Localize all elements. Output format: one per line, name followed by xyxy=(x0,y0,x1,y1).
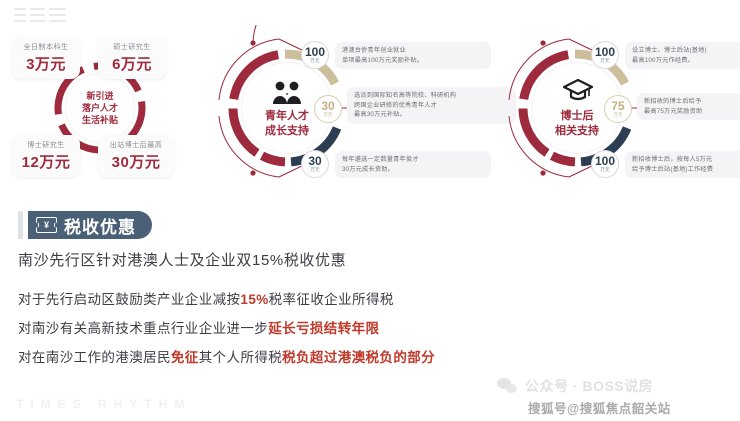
diagram-youth-talent: 青年人才 成长支持 100 万元 30 万元 30 万元 港澳台侨青年创业就业 … xyxy=(205,25,495,190)
wechat-icon xyxy=(497,378,519,395)
settlement-center-line-1: 新引进 xyxy=(86,90,113,102)
settlement-center-line-2: 落户人才 xyxy=(82,102,118,114)
youth-badge-3: 30 万元 xyxy=(301,150,329,178)
postdoc-badge-3: 100 万元 xyxy=(591,150,619,178)
settlement-center-line-3: 生活补贴 xyxy=(82,114,118,126)
youth-node-top xyxy=(250,40,255,45)
tax-policy-line-1: 对于先行启动区鼓励类产业企业减按15%税率征收企业所得税 xyxy=(18,288,435,308)
tax-heading-title: 税收优惠 xyxy=(64,213,136,238)
diagram-settlement-subsidy: 新引进 落户人才 生活补贴 全日制本科生 3万元 硕士研究生 6万元 博士研究生… xyxy=(0,25,200,190)
tax-subtitle: 南沙先行区针对港澳人士及企业双15%税收优惠 xyxy=(18,249,346,270)
decorative-lines xyxy=(14,8,66,24)
times-rhythm-watermark: TIMES RHYTHM xyxy=(16,397,191,411)
settlement-card-bachelor: 全日制本科生 3万元 xyxy=(12,37,80,79)
sohu-watermark: 搜狐号@搜狐焦点韶关站 xyxy=(528,398,671,417)
youth-badge-1: 100 万元 xyxy=(301,41,329,69)
settlement-card-master: 硕士研究生 6万元 xyxy=(98,37,166,79)
postdoc-bubble-3: 新招收博士后，按每人5万元 给予博士后站(基地)工作经费 xyxy=(625,151,740,178)
postdoc-badge-2: 75 万元 xyxy=(604,95,632,123)
ticket-yen-icon: ¥ xyxy=(36,217,57,233)
postdoc-badge-1: 100 万元 xyxy=(591,41,619,69)
youth-badge-2: 30 万元 xyxy=(314,95,342,123)
tax-policy-list: 对于先行启动区鼓励类产业企业减按15%税率征收企业所得税 对南沙有关高新技术重点… xyxy=(18,288,435,375)
settlement-card-postdoc: 出站博士后最高 30万元 xyxy=(98,135,174,177)
postdoc-bubble-2: 新招收的博士后给予 最高75万元奖励资助 xyxy=(637,93,740,120)
postdoc-node-top xyxy=(540,40,545,45)
tax-section-heading: ¥ 税收优惠 xyxy=(18,211,152,239)
youth-bubble-1: 港澳台侨青年创业就业 单项最高100万元奖励补贴。 xyxy=(335,42,491,69)
youth-node-bottom xyxy=(250,170,255,175)
postdoc-node-bottom xyxy=(540,170,545,175)
settlement-center-label: 新引进 落户人才 生活补贴 xyxy=(65,73,135,143)
postdoc-bubble-1: 设立博士、博士后站(基地) 最高100万元作经费。 xyxy=(625,42,740,69)
tax-policy-line-3: 对在南沙工作的港澳居民免征其个人所得税税负超过港澳税负的部分 xyxy=(18,346,435,366)
heading-accent-bar xyxy=(18,211,23,239)
youth-center-line-2: 成长支持 xyxy=(265,124,309,139)
postdoc-center-line-1: 博士后 xyxy=(561,109,594,124)
diagram-postdoc-support: 博士后 相关支持 100 万元 75 万元 100 万元 设立博士、博士后站(基… xyxy=(495,25,740,190)
youth-bubble-2: 选派到国际知名高等院校、科研机构 跨国企业研修的优秀青年人才 最高30万元补贴。 xyxy=(347,87,516,124)
youth-bubble-3: 每年遴选一定数量青年俊才 30万元成长资助。 xyxy=(335,151,491,178)
tax-heading-pill: ¥ 税收优惠 xyxy=(28,211,152,239)
settlement-card-doctor: 博士研究生 12万元 xyxy=(12,135,80,177)
youth-center-line-1: 青年人才 xyxy=(265,109,309,124)
postdoc-center-line-2: 相关支持 xyxy=(555,124,599,139)
tax-policy-line-2: 对南沙有关高新技术重点行业企业进一步延长亏损结转年限 xyxy=(18,317,435,337)
wechat-account-label: 公众号 · BOSS说房 xyxy=(497,376,653,396)
infographic-page: 新引进 落户人才 生活补贴 全日制本科生 3万元 硕士研究生 6万元 博士研究生… xyxy=(0,0,740,421)
